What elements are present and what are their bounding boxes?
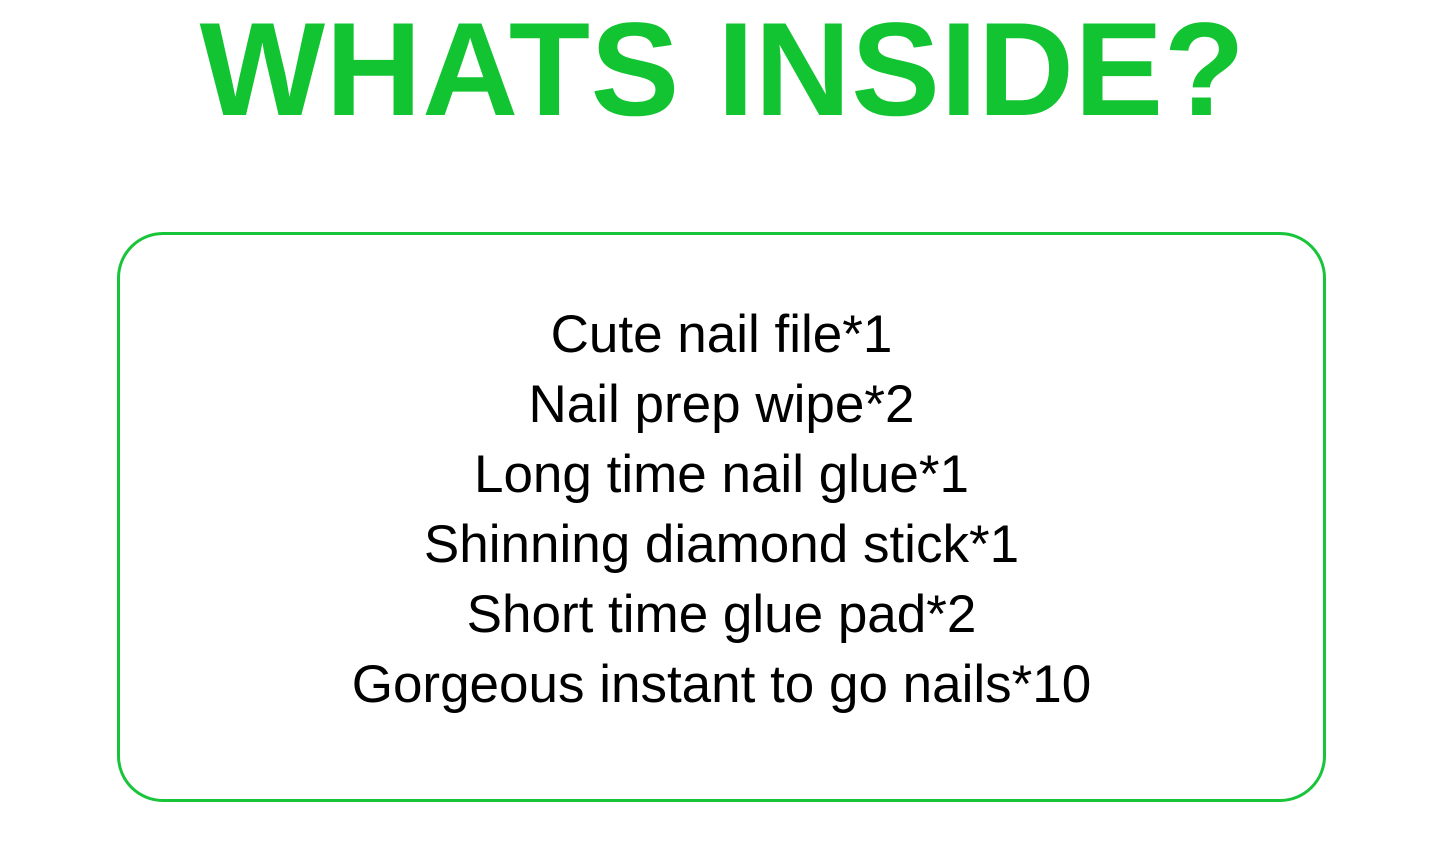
list-item: Shinning diamond stick*1 (424, 510, 1019, 580)
page-title-text: WHATS INSIDE? (200, 2, 1246, 139)
contents-list: Cute nail file*1 Nail prep wipe*2 Long t… (120, 235, 1323, 799)
list-item: Nail prep wipe*2 (529, 370, 915, 440)
page-title: WHATS INSIDE? (0, 0, 1445, 160)
list-item: Long time nail glue*1 (474, 440, 969, 510)
contents-card: Cute nail file*1 Nail prep wipe*2 Long t… (117, 232, 1326, 802)
list-item: Cute nail file*1 (551, 300, 893, 370)
list-item: Short time glue pad*2 (467, 580, 977, 650)
list-item: Gorgeous instant to go nails*10 (352, 650, 1092, 720)
slide-root: WHATS INSIDE? Cute nail file*1 Nail prep… (0, 0, 1445, 861)
